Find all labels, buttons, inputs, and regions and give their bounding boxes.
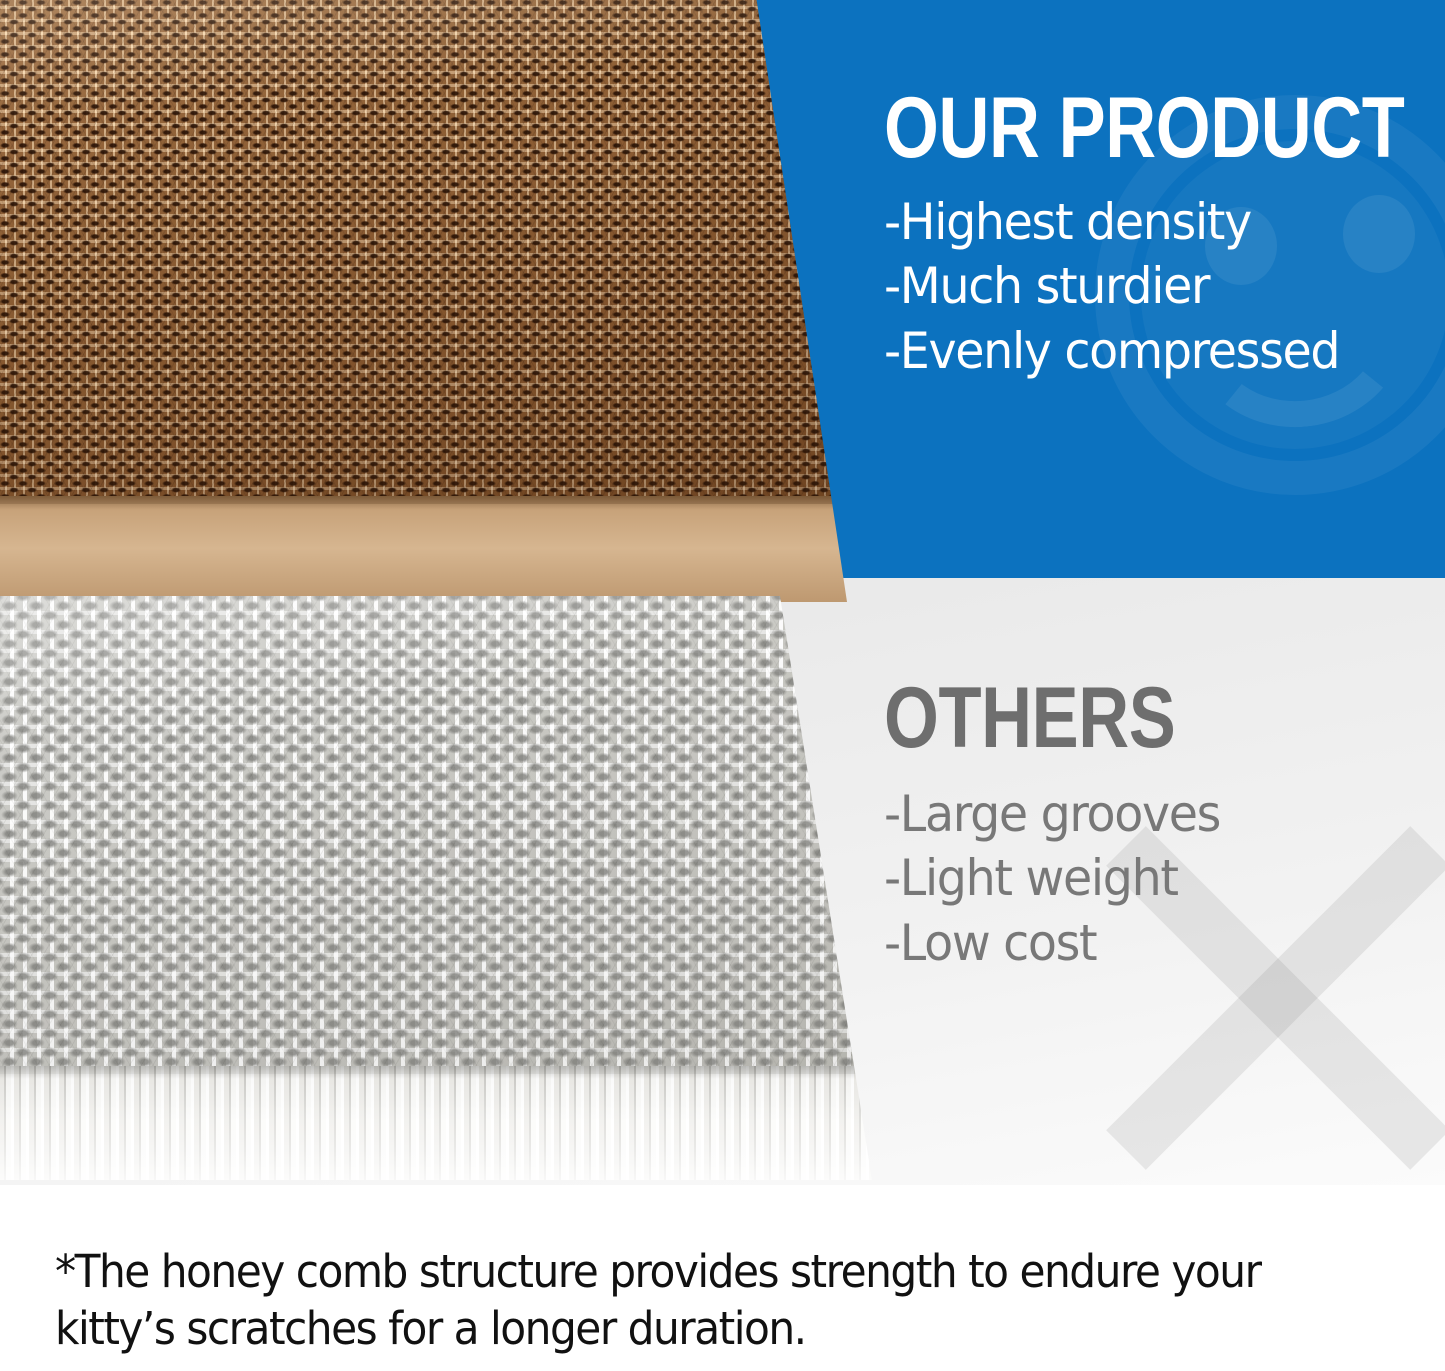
others-text-block: OTHERS -Large grooves -Light weight -Low… — [884, 682, 1239, 975]
brown-slab-front-edge — [0, 496, 852, 610]
infographic-root: OUR PRODUCT -Highest density -Much sturd… — [0, 0, 1445, 1371]
our-product-bullet-list: -Highest density -Much sturdier -Evenly … — [884, 190, 1445, 384]
others-bullet-3: -Low cost — [884, 911, 1222, 976]
white-slab-front-edge — [0, 1066, 880, 1184]
our-product-bullet-2: -Much sturdier — [884, 254, 1445, 319]
others-bullet-list: -Large grooves -Light weight -Low cost — [884, 782, 1239, 976]
others-bullet-2: -Light weight — [884, 846, 1222, 911]
brown-slab-top-face — [0, 0, 852, 504]
our-product-bullet-1: -Highest density — [884, 190, 1445, 255]
others-bullet-1: -Large grooves — [884, 782, 1222, 847]
white-honeycomb-competitor-image — [0, 596, 880, 1184]
our-product-text-block: OUR PRODUCT -Highest density -Much sturd… — [884, 92, 1445, 383]
our-product-heading: OUR PRODUCT — [884, 92, 1404, 166]
our-product-bullet-3: -Evenly compressed — [884, 319, 1445, 384]
brown-honeycomb-product-image — [0, 0, 852, 610]
footnote-band: *The honey comb structure provides stren… — [0, 1185, 1445, 1371]
others-heading: OTHERS — [884, 682, 1175, 756]
product-comparison-image-area: OUR PRODUCT -Highest density -Much sturd… — [0, 0, 1445, 1185]
footnote-text: *The honey comb structure provides stren… — [55, 1243, 1324, 1357]
white-slab-top-face — [0, 596, 880, 1074]
